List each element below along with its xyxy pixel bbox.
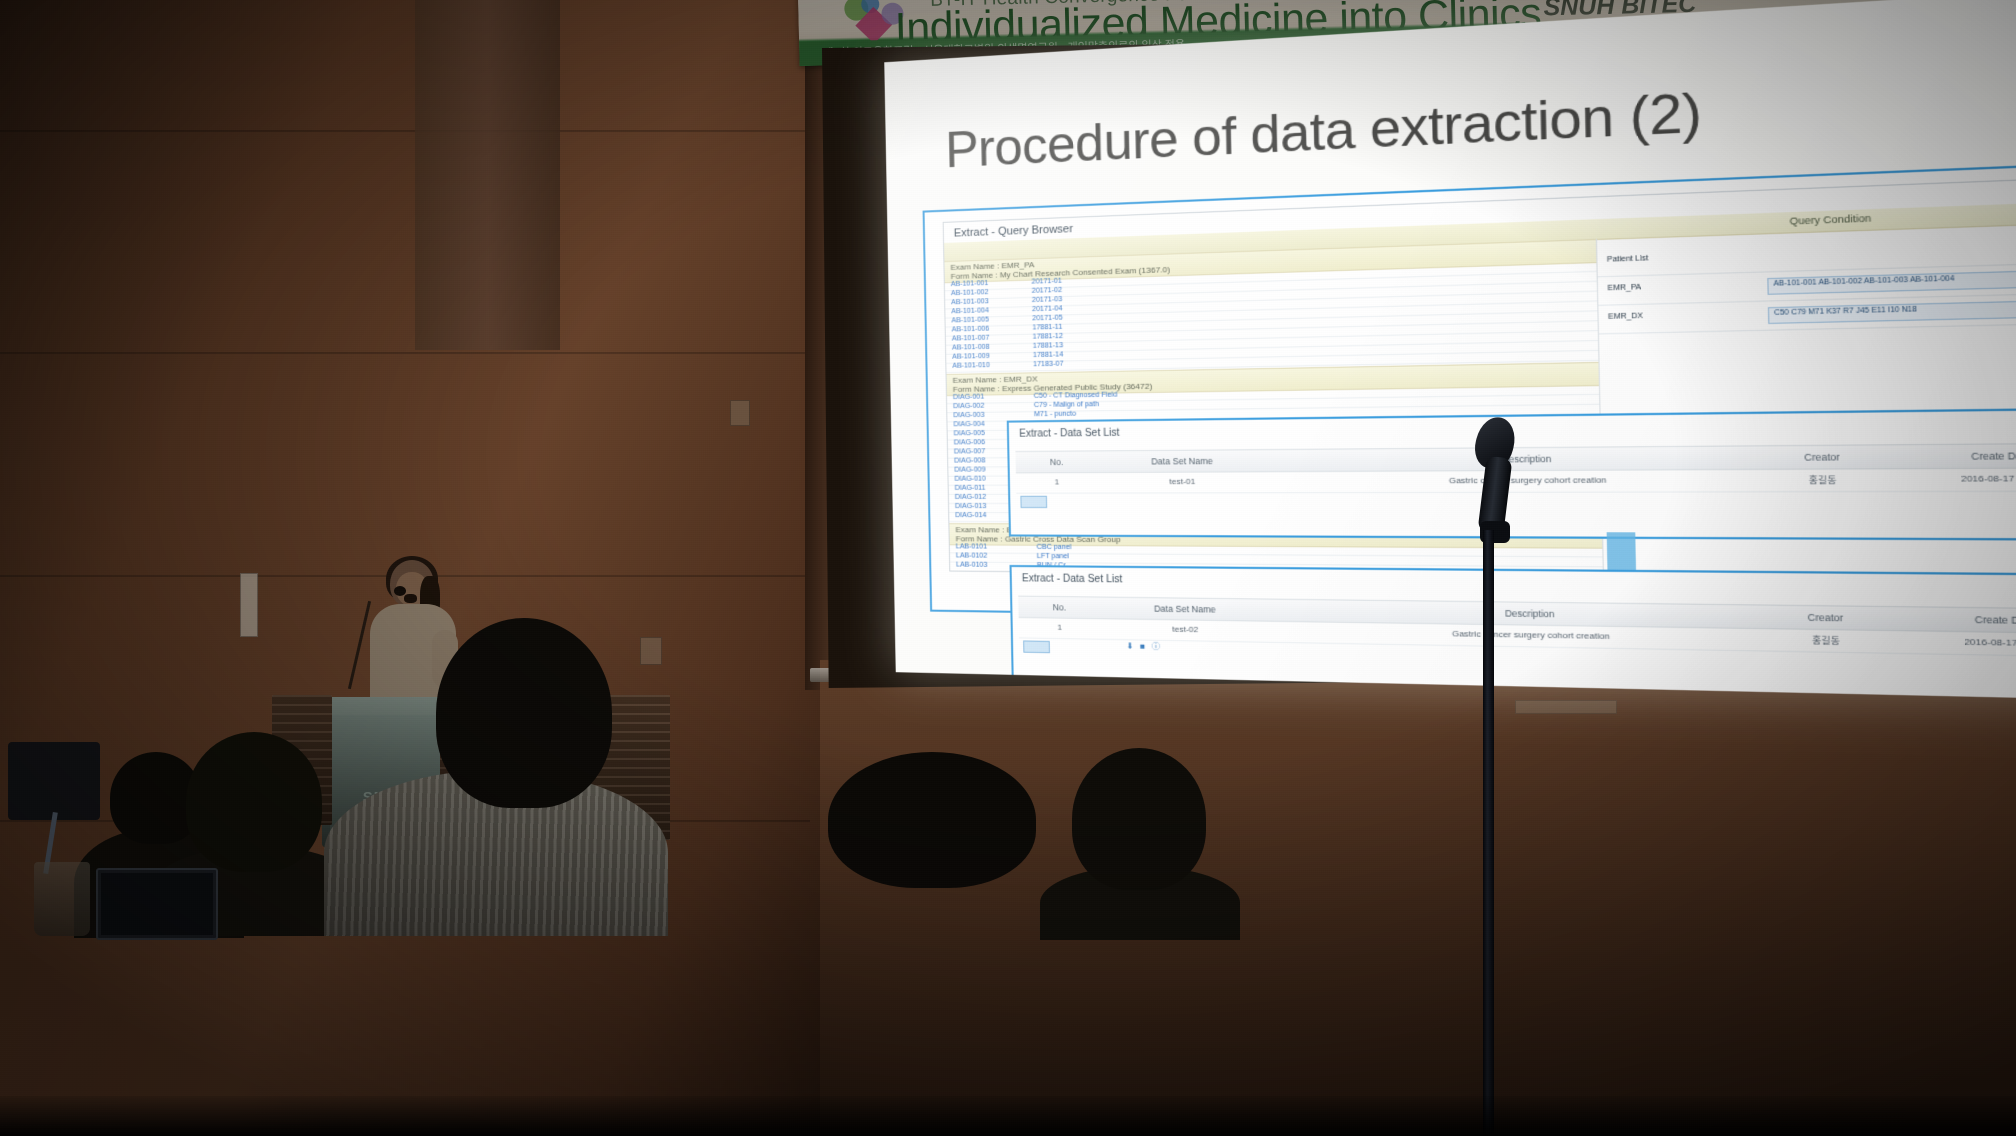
foreground-shadow (0, 1096, 2016, 1136)
row-code: DIAG-007 (954, 448, 985, 455)
projection-screen: Procedure of data extraction (2) Extract… (884, 0, 2016, 704)
row-code: DIAG-003 (953, 412, 984, 419)
wall-switch[interactable] (730, 400, 750, 426)
row-value: 20171-02 (1032, 287, 1062, 295)
row-code: AB-101-003 (951, 298, 989, 306)
row-value: C79 - Malign of path (1034, 401, 1099, 409)
cell-no: 1 (1057, 623, 1062, 632)
row-action-chip[interactable] (1023, 640, 1050, 653)
condition-label: EMR_PA (1607, 284, 1641, 293)
audience-monitor (8, 742, 100, 820)
wall-column (415, 0, 560, 350)
col-date: Create Date (1975, 614, 2016, 626)
slide-title: Procedure of data extraction (2) (945, 46, 2016, 179)
row-value: LFT panel (1037, 553, 1069, 560)
row-value: C50 - CT Diagnosed Field (1034, 391, 1118, 399)
cell-date: 2016-08-17 11:20 (1961, 473, 2016, 484)
row-code: DIAG-012 (955, 494, 986, 501)
audience-member-head (186, 732, 322, 872)
row-value: 20171-05 (1032, 314, 1062, 322)
row-action-chip[interactable] (1020, 496, 1047, 508)
cell-name: test-02 (1172, 624, 1198, 634)
audience-member-head (828, 752, 1036, 888)
row-code: AB-101-009 (952, 353, 990, 361)
row-value: 17881-14 (1033, 351, 1063, 359)
audience-laptop (96, 868, 218, 940)
row-code: AB-101-010 (952, 362, 990, 370)
row-value: 20171-03 (1032, 296, 1062, 304)
wall-outlet[interactable] (640, 637, 662, 665)
presenter-mouth (404, 594, 417, 603)
lecture-hall-photo: BT-IT Health Convergence Forum Individua… (0, 0, 2016, 1136)
wall-fixture (240, 573, 258, 637)
row-code: LAB-0101 (956, 543, 987, 550)
drink-cup (34, 862, 90, 936)
cell-creator: 홍길동 (1809, 474, 1837, 487)
col-date: Create Date (1971, 450, 2016, 462)
row-value: 17881-11 (1032, 324, 1062, 332)
query-browser-title: Extract - Query Browser (954, 223, 1073, 240)
cell-creator: 홍길동 (1812, 634, 1840, 647)
row-code: DIAG-004 (953, 421, 984, 428)
row-value: 20171-01 (1031, 278, 1061, 286)
row-code: DIAG-011 (955, 485, 986, 492)
laptop-screen (101, 873, 213, 935)
condition-label: EMR_DX (1608, 313, 1643, 322)
data-set-list-title: Extract - Data Set List (1022, 573, 1123, 585)
row-code: AB-101-006 (952, 326, 990, 334)
download-icon[interactable]: ⬇ (1126, 641, 1135, 650)
foreground-microphone (1462, 417, 1526, 541)
row-code: AB-101-005 (951, 316, 989, 324)
data-set-list-title: Extract - Data Set List (1019, 428, 1119, 440)
condition-value-input[interactable]: AB-101-001 AB-101-002 AB-101-003 AB-101-… (1767, 269, 2016, 295)
podium-mic-icon (394, 586, 406, 596)
wall-molding (1515, 700, 1617, 714)
row-code: DIAG-008 (954, 457, 985, 464)
col-name: Data Set Name (1151, 456, 1213, 467)
row-code: LAB-0103 (956, 562, 987, 569)
cell-desc: Gastric cancer surgery cohort creation (1452, 629, 1610, 641)
condition-value: C50 C79 M71 K37 R7 J45 E11 I10 N18 (1774, 306, 1917, 317)
row-code: AB-101-001 (951, 280, 989, 288)
row-icons[interactable]: ⬇ ■ ⓘ (1126, 640, 1162, 652)
condition-value-input[interactable]: C50 C79 M71 K37 R7 J45 E11 I10 N18 (1768, 299, 2016, 324)
row-code: AB-101-002 (951, 289, 989, 297)
row-code: DIAG-014 (955, 512, 986, 519)
info-icon[interactable]: ⓘ (1152, 642, 1163, 652)
col-no: No. (1052, 602, 1066, 612)
row-value: 20171-04 (1032, 305, 1062, 313)
cell-date: 2016-08-17 13:05 (1964, 637, 2016, 649)
row-value: 17881-13 (1033, 342, 1063, 350)
col-name: Data Set Name (1154, 603, 1216, 614)
row-value: 17881-12 (1033, 333, 1063, 341)
row-code: DIAG-001 (953, 394, 984, 402)
outer-highlight-box: Extract - Query Browser Query Condition … (923, 157, 2016, 630)
row-code: DIAG-005 (954, 430, 985, 437)
mic-stand-pole (1483, 530, 1494, 1136)
excel-icon[interactable]: ■ (1140, 642, 1147, 651)
col-creator: Creator (1808, 612, 1844, 624)
query-condition-label: Query Condition (1789, 213, 1871, 227)
row-code: AB-101-004 (951, 307, 989, 315)
row-code: AB-101-008 (952, 344, 990, 352)
col-no: No. (1050, 457, 1064, 467)
row-code: AB-101-007 (952, 335, 990, 343)
col-creator: Creator (1804, 451, 1840, 463)
cell-no: 1 (1055, 477, 1060, 486)
row-value: 17183-07 (1033, 361, 1063, 369)
condition-label: Patient List (1607, 255, 1648, 264)
row-code: DIAG-002 (953, 403, 984, 411)
row-code: DIAG-010 (954, 476, 985, 483)
row-value: CBC panel (1037, 544, 1072, 551)
col-desc: Description (1505, 608, 1555, 620)
row-code: DIAG-013 (955, 503, 986, 510)
wall-right-section (820, 660, 2016, 1136)
row-value: M71 - puncto (1034, 411, 1076, 419)
audience-member-head (1072, 748, 1206, 890)
row-code: DIAG-009 (954, 466, 985, 473)
cell-name: test-01 (1169, 477, 1195, 486)
condition-value: AB-101-001 AB-101-002 AB-101-003 AB-101-… (1773, 275, 1954, 288)
row-code: LAB-0102 (956, 552, 987, 559)
row-code: DIAG-006 (954, 439, 985, 446)
audience-member-head-foreground (436, 618, 612, 808)
